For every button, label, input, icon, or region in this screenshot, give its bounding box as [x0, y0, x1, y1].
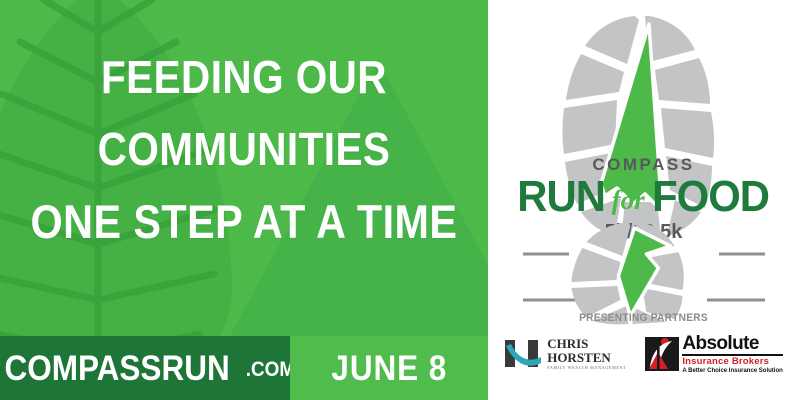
- chris-horsten-line-2: HORSTEN: [547, 351, 626, 364]
- headline-block: FEEDING OUR COMMUNITIES ONE STEP AT A TI…: [0, 54, 488, 245]
- chris-horsten-tagline: FAMILY WEALTH MANAGEMENT: [547, 366, 626, 370]
- event-date-bar: JUNE 8: [290, 336, 488, 400]
- website-url-tld: .COM: [245, 359, 294, 380]
- presenting-partners-label: PRESENTING PARTNERS: [500, 312, 786, 324]
- event-date-text: JUNE 8: [331, 351, 447, 386]
- event-promo-banner: FEEDING OUR COMMUNITIES ONE STEP AT A TI…: [0, 0, 799, 400]
- headline-line-1: FEEDING OUR: [29, 54, 458, 100]
- chris-horsten-mark-icon: [504, 338, 542, 370]
- website-url-main: COMPASSRUN: [5, 351, 230, 386]
- absolute-mark-icon: [644, 336, 680, 372]
- left-green-panel: FEEDING OUR COMMUNITIES ONE STEP AT A TI…: [0, 0, 488, 400]
- partner-logos-row: CHRIS HORSTEN FAMILY WEALTH MANAGEMENT: [488, 334, 799, 374]
- chris-horsten-line-1: CHRIS: [547, 337, 626, 350]
- absolute-tagline: A Better Choice Insurance Solution: [682, 368, 782, 374]
- absolute-line-2: Insurance Brokers: [682, 357, 782, 367]
- headline-line-2: COMMUNITIES: [29, 126, 458, 172]
- presenting-partners-section: PRESENTING PARTNERS CHRIS HORSTEN FAMILY…: [488, 312, 799, 374]
- event-logo: COMPASS RUN for FOOD 5k/10.5k: [488, 8, 799, 308]
- headline-line-3: ONE STEP AT A TIME: [29, 198, 458, 245]
- website-url-bar[interactable]: COMPASSRUN .COM: [0, 336, 290, 400]
- shoe-heel-tread-icon: [570, 220, 730, 325]
- partner-logo-chris-horsten[interactable]: CHRIS HORSTEN FAMILY WEALTH MANAGEMENT: [504, 337, 626, 370]
- absolute-line-1: Absolute: [682, 334, 782, 353]
- partner-logo-absolute[interactable]: Absolute Insurance Brokers A Better Choi…: [644, 334, 782, 374]
- right-white-panel: COMPASS RUN for FOOD 5k/10.5k: [488, 0, 799, 400]
